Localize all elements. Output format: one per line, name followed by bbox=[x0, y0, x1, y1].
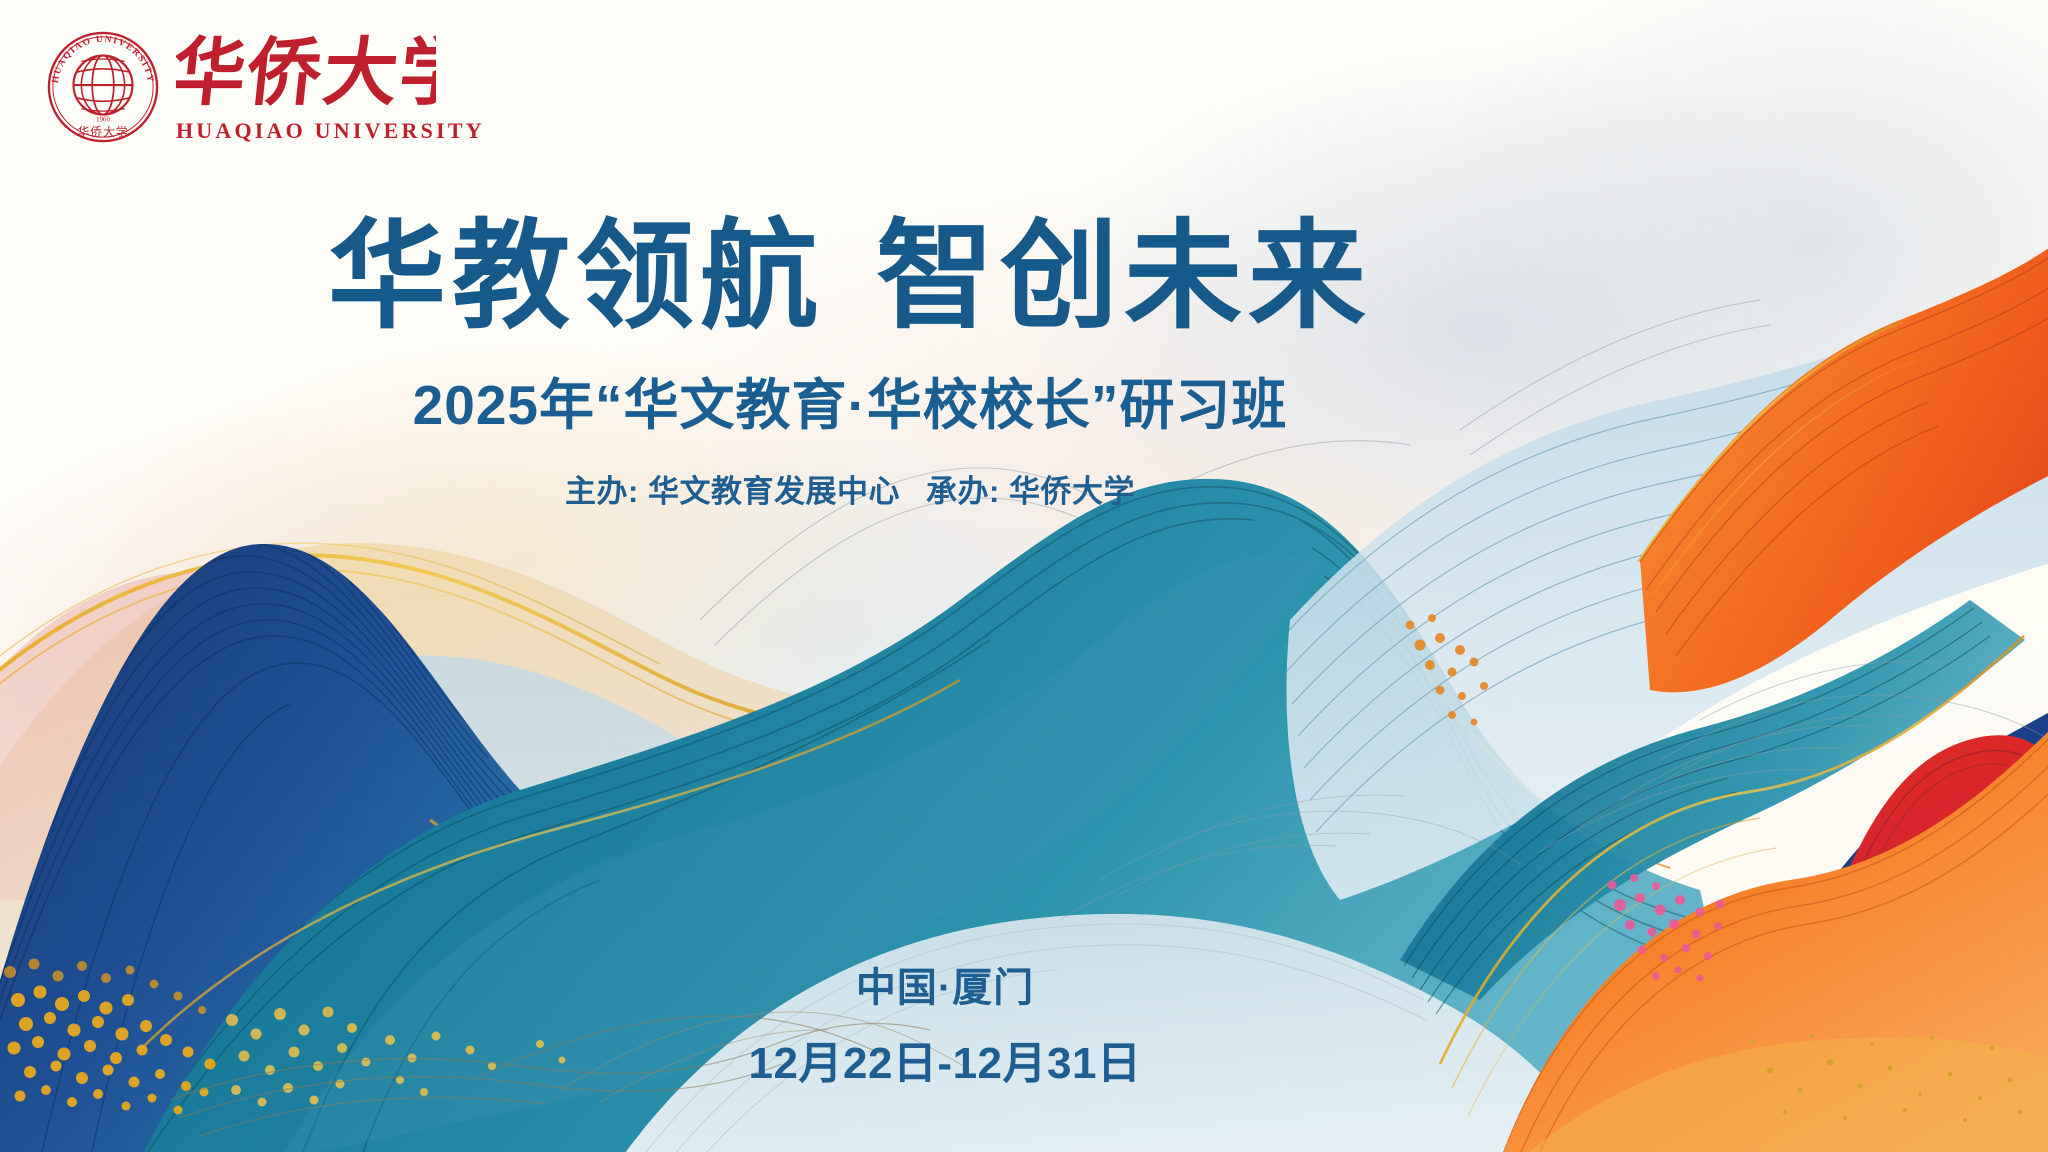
huaqiao-university-seal-icon: HUAQIAO UNIVERSITY 1960 华侨大学 bbox=[44, 28, 162, 146]
event-venue: 中国·厦门 bbox=[705, 955, 1185, 1013]
co-host-label: 承办: bbox=[926, 474, 1000, 509]
host-name: 华文教育发展中心 bbox=[648, 474, 900, 509]
svg-text:1960: 1960 bbox=[96, 116, 110, 123]
co-host-name: 华侨大学 bbox=[1009, 474, 1135, 509]
svg-text:华侨大学: 华侨大学 bbox=[176, 32, 436, 116]
logo-chinese-name: 华侨大学 bbox=[176, 32, 436, 116]
logo-english-name: HUAQIAO UNIVERSITY bbox=[176, 118, 485, 144]
page-title: 华教领航智创未来 bbox=[0, 218, 1700, 336]
headline-part-2: 智创未来 bbox=[876, 211, 1372, 343]
host-label: 主办: bbox=[565, 474, 639, 509]
logo-wordmark: 华侨大学 HUAQIAO UNIVERSITY bbox=[176, 32, 485, 144]
university-logo-lockup[interactable]: HUAQIAO UNIVERSITY 1960 华侨大学 华侨大学 HUAQIA… bbox=[44, 28, 485, 146]
headline-part-1: 华教领航 bbox=[328, 211, 824, 343]
event-footer-info: 中国·厦门 12月22日-12月31日 bbox=[705, 955, 1185, 1091]
event-dates: 12月22日-12月31日 bbox=[705, 1027, 1185, 1091]
organizer-line: 主办: 华文教育发展中心承办: 华侨大学 bbox=[0, 466, 1700, 511]
svg-text:华侨大学: 华侨大学 bbox=[77, 125, 128, 139]
banner-canvas: HUAQIAO UNIVERSITY 1960 华侨大学 华侨大学 HUAQIA… bbox=[0, 0, 2048, 1152]
event-subtitle: 2025年“华文教育·华校校长”研习班 bbox=[0, 360, 1700, 440]
headline-block: 华教领航智创未来 2025年“华文教育·华校校长”研习班 主办: 华文教育发展中… bbox=[0, 218, 1700, 511]
